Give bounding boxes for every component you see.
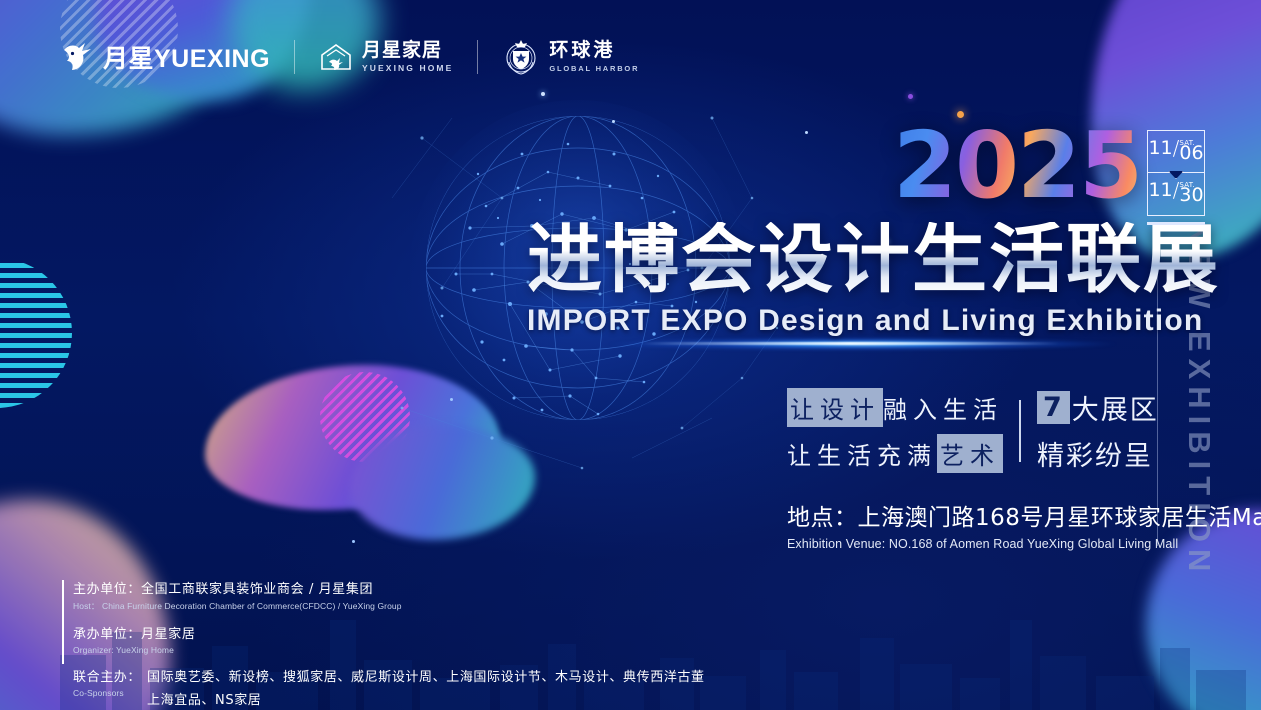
logo-global-harbor-en: GLOBAL HARBOR xyxy=(549,65,639,73)
logo-yuexing-label: 月星YUEXING xyxy=(103,39,270,75)
credits-divider-rule xyxy=(62,580,64,664)
credits-block: 主办单位：全国工商联家具装饰业商会 / 月星集团 Host： China Fur… xyxy=(73,578,705,710)
credit-organizer-label-en: Organizer: xyxy=(73,645,114,655)
date-start-day: 06 xyxy=(1179,144,1203,163)
credit-cosponsors-value-line1: 国际奥艺委、新设榜、搜狐家居、威尼斯设计周、上海国际设计节、木马设计、典传西洋古… xyxy=(147,666,705,685)
credit-cosponsors-label-en: Co-Sponsors xyxy=(73,688,141,698)
zone-count-label: 大展区 xyxy=(1072,388,1159,427)
slogan-line-1-highlight: 让设计 xyxy=(787,388,883,427)
credit-host-en: Host： China Furniture Decoration Chamber… xyxy=(73,600,705,612)
title-block: 进博会设计生活联展 IMPORT EXPO Design and Living … xyxy=(527,222,1220,338)
sparkle-dot-white-f xyxy=(450,398,453,401)
sparkle-dot-white-c xyxy=(805,131,808,134)
poster-canvas: 月星YUEXING 月星家居 YUEXING HOME xyxy=(0,0,1261,710)
logo-global-harbor[interactable]: 环球港 GLOBAL HARBOR xyxy=(502,38,639,76)
slogan-line-1-plain: 融入生活 xyxy=(883,390,1003,425)
credit-host-value-en: China Furniture Decoration Chamber of Co… xyxy=(102,601,402,611)
slogan-line-2-highlight: 艺术 xyxy=(937,434,1003,473)
credit-organizer-value-cn: 月星家居 xyxy=(141,627,195,642)
credit-organizer-cn: 承办单位：月星家居 xyxy=(73,623,705,642)
slogan-zones-line: 7 大展区 xyxy=(1037,388,1159,427)
date-end-month: 11 xyxy=(1148,181,1172,200)
credit-organizer-label-cn: 承办单位： xyxy=(73,627,141,642)
venue-block: 地点：上海澳门路168号月星环球家居生活Mall Exhibition Venu… xyxy=(787,498,1261,551)
credit-cosponsors-label: 联合主办： Co-Sponsors xyxy=(73,666,141,698)
slogan-highlight-label: 精彩纷呈 xyxy=(1037,434,1153,473)
striped-circle-left-edge xyxy=(0,258,72,408)
date-cell-end: 11 / SAT. 30 xyxy=(1147,173,1205,216)
page-title-cn: 进博会设计生活联展 xyxy=(527,222,1220,297)
date-slash-icon-2: / xyxy=(1173,180,1180,200)
sparkle-dot-white-g xyxy=(352,540,355,543)
venue-address-en: Exhibition Venue: NO.168 of Aomen Road Y… xyxy=(787,537,1261,551)
credit-cosponsors-label-cn: 联合主办： xyxy=(73,666,141,685)
logo-divider-1 xyxy=(294,40,295,74)
date-start-month: 11 xyxy=(1148,139,1172,158)
credit-organizer-value-en: YueXing Home xyxy=(116,645,174,655)
date-badge: 11 / SAT. 06 11 / SAT. 30 xyxy=(1147,130,1205,225)
light-beam-core xyxy=(640,342,1060,345)
slogan-divider xyxy=(1019,400,1021,462)
credit-host-value-cn: 全国工商联家具装饰业商会 / 月星集团 xyxy=(141,582,373,597)
credit-row-cosponsors: 联合主办： Co-Sponsors 国际奥艺委、新设榜、搜狐家居、威尼斯设计周、… xyxy=(73,666,705,710)
slogan-line-2-plain: 让生活充满 xyxy=(787,436,937,471)
page-title-en: IMPORT EXPO Design and Living Exhibition xyxy=(527,304,1220,338)
slogan-left-column: 让设计 融入生活 让生活充满 艺术 xyxy=(787,388,1003,473)
date-slash-icon: / xyxy=(1173,138,1180,158)
zone-count-badge: 7 xyxy=(1037,391,1070,424)
year-2025: 2025 xyxy=(893,120,1141,212)
credit-row-host: 主办单位：全国工商联家具装饰业商会 / 月星集团 Host： China Fur… xyxy=(73,578,705,612)
date-underline-rule xyxy=(1147,222,1205,225)
logo-yuexing-home-cn: 月星家居 xyxy=(362,41,453,60)
slogan-block: 让设计 融入生活 让生活充满 艺术 7 大展区 精彩纷呈 xyxy=(787,388,1159,473)
logo-yuexing-home-en: YUEXING HOME xyxy=(362,64,453,73)
slogan-line-2: 让生活充满 艺术 xyxy=(787,434,1003,473)
global-harbor-crest-icon xyxy=(502,38,540,76)
logo-bar: 月星YUEXING 月星家居 YUEXING HOME xyxy=(58,38,639,76)
date-end-day: 30 xyxy=(1179,186,1203,205)
credit-host-label-cn: 主办单位： xyxy=(73,582,141,597)
credit-cosponsors-values: 国际奥艺委、新设榜、搜狐家居、威尼斯设计周、上海国际设计节、木马设计、典传西洋古… xyxy=(147,666,705,710)
sparkle-dot-white-a xyxy=(541,92,545,96)
logo-divider-2 xyxy=(477,40,478,74)
venue-address-cn: 地点：上海澳门路168号月星环球家居生活Mall xyxy=(787,498,1261,532)
sparkle-dot-purple xyxy=(908,94,913,99)
slogan-highlight-line: 精彩纷呈 xyxy=(1037,434,1159,473)
credit-cosponsors-value-line2: 上海宜品、NS家居 xyxy=(147,689,705,708)
slogan-line-1: 让设计 融入生活 xyxy=(787,388,1003,427)
slogan-right-column: 7 大展区 精彩纷呈 xyxy=(1037,388,1159,473)
date-cell-start: 11 / SAT. 06 xyxy=(1147,130,1205,173)
yuexing-home-house-icon xyxy=(319,42,353,72)
logo-global-harbor-cn: 环球港 xyxy=(549,41,639,60)
logo-yuexing-home[interactable]: 月星家居 YUEXING HOME xyxy=(319,41,453,73)
logo-yuexing[interactable]: 月星YUEXING xyxy=(58,39,270,75)
credit-host-cn: 主办单位：全国工商联家具装饰业商会 / 月星集团 xyxy=(73,578,705,597)
credit-row-organizer: 承办单位：月星家居 Organizer: YueXing Home xyxy=(73,623,705,655)
yuexing-star-icon xyxy=(58,41,94,73)
credit-organizer-en: Organizer: YueXing Home xyxy=(73,645,705,655)
sparkle-dot-white-b xyxy=(612,120,615,123)
credit-host-label-en: Host： xyxy=(73,601,99,611)
